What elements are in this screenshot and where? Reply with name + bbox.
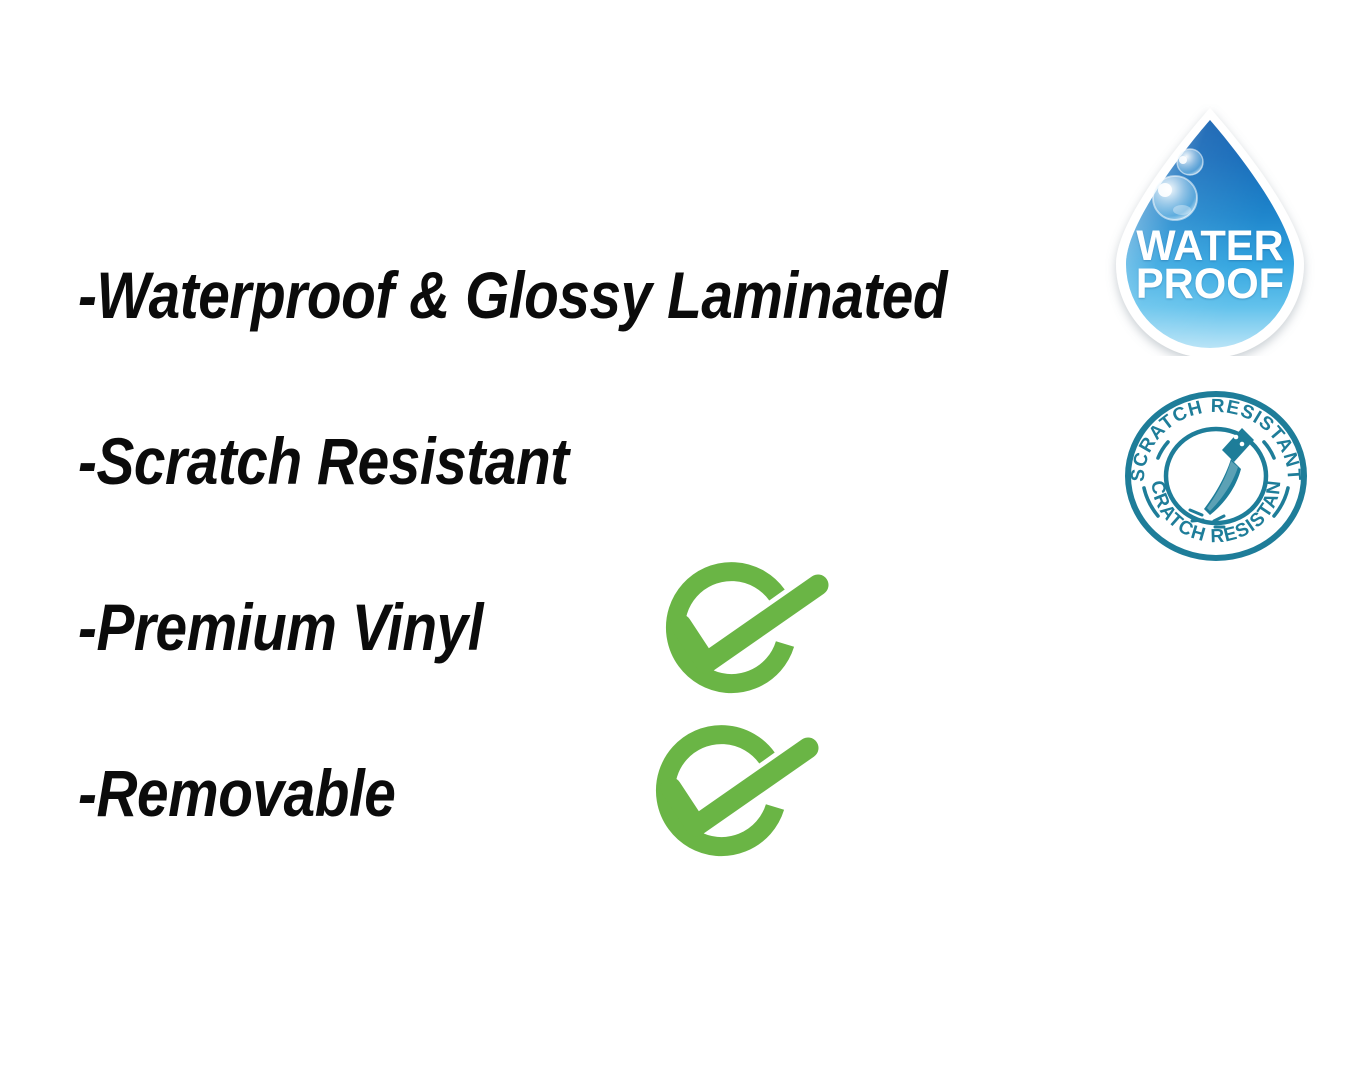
knife-icon bbox=[1204, 428, 1254, 515]
knife-rivet-2 bbox=[1240, 442, 1245, 447]
check-mark bbox=[671, 748, 808, 826]
water-drop-icon bbox=[1104, 104, 1316, 356]
feature-text-waterproof-glossy-laminated: -Waterproof & Glossy Laminated bbox=[78, 262, 947, 328]
check-circle-icon bbox=[630, 715, 820, 875]
knife-rivet-1 bbox=[1234, 435, 1239, 440]
water-bubble-large-lowlight bbox=[1173, 205, 1191, 215]
knife-stamp-icon: SCRATCH RESISTANT SCRATCH RESISTANT bbox=[1118, 384, 1314, 568]
feature-text-premium-vinyl: -Premium Vinyl bbox=[78, 594, 483, 660]
check-circle-icon bbox=[640, 552, 830, 712]
water-bubble-small-glint bbox=[1179, 156, 1187, 164]
knife-handle bbox=[1222, 428, 1254, 462]
feature-text-removable: -Removable bbox=[78, 760, 395, 826]
feature-list-graphic: -Waterproof & Glossy Laminated -Scratch … bbox=[0, 0, 1359, 1080]
check-mark bbox=[681, 585, 818, 663]
scratch-resistant-badge: SCRATCH RESISTANT SCRATCH RESISTANT bbox=[1118, 384, 1314, 568]
check-badge-premium-vinyl bbox=[640, 552, 830, 712]
check-badge-removable bbox=[630, 715, 820, 875]
feature-text-scratch-resistant: -Scratch Resistant bbox=[78, 428, 569, 494]
water-bubble-large-glint bbox=[1158, 183, 1172, 197]
water-drop-highlight bbox=[1126, 120, 1294, 348]
knife-rivet-3 bbox=[1246, 449, 1251, 454]
stamp-top-arc-text: SCRATCH RESISTANT bbox=[1128, 396, 1305, 483]
waterproof-badge: WATER PROOF bbox=[1104, 104, 1316, 356]
